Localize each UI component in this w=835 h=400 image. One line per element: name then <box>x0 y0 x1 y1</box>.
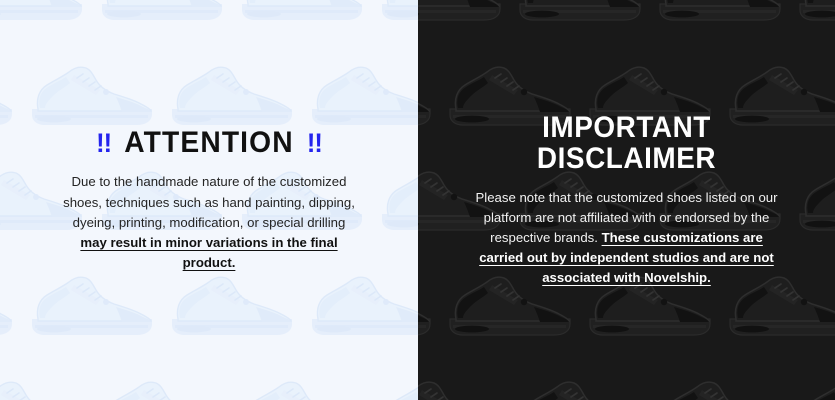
disclaimer-panel: IMPORTANT DISCLAIMER Please note that th… <box>418 0 835 400</box>
attention-content: !! ATTENTION !! Due to the handmade natu… <box>0 127 418 273</box>
attention-body-emphasis: may result in minor variations in the fi… <box>80 235 337 270</box>
exclamation-mark-icon-left: !! <box>96 129 111 157</box>
attention-panel: !! ATTENTION !! Due to the handmade natu… <box>0 0 418 400</box>
disclaimer-body: Please note that the customized shoes li… <box>471 188 783 288</box>
disclaimer-banner: !! ATTENTION !! Due to the handmade natu… <box>0 0 835 400</box>
disclaimer-heading-line1: IMPORTANT <box>457 112 796 143</box>
disclaimer-content: IMPORTANT DISCLAIMER Please note that th… <box>418 112 835 289</box>
attention-heading: !! ATTENTION !! <box>37 127 381 158</box>
attention-heading-text: ATTENTION <box>124 127 293 158</box>
disclaimer-heading-line2: DISCLAIMER <box>457 143 796 174</box>
attention-body: Due to the handmade nature of the custom… <box>61 172 357 272</box>
disclaimer-heading: IMPORTANT DISCLAIMER <box>457 112 796 174</box>
attention-body-normal: Due to the handmade nature of the custom… <box>63 174 355 229</box>
exclamation-mark-icon-right: !! <box>307 129 322 157</box>
